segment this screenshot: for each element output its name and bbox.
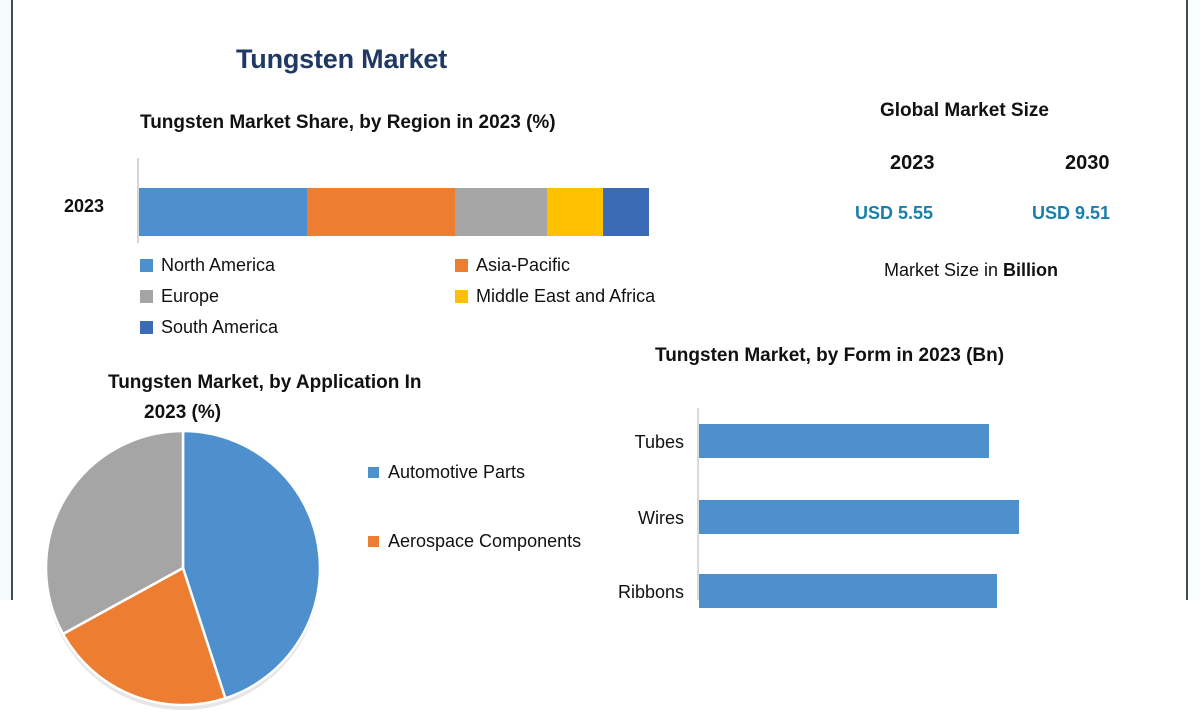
legend-item-automotive-parts[interactable]: Automotive Parts: [368, 460, 583, 485]
right-edge-wash: [1188, 0, 1200, 600]
stacked-segment: [307, 188, 455, 236]
region-legend-row: North America Asia-Pacific: [140, 250, 685, 281]
application-pie-chart: [40, 425, 330, 600]
application-title-line1: Tungsten Market, by Application In: [108, 372, 422, 393]
pie-slice-group: [46, 431, 320, 705]
legend-item-asia-pacific[interactable]: Asia-Pacific: [455, 255, 570, 276]
left-edge-wash: [0, 0, 11, 600]
global-market-value-forecast: USD 9.51: [1032, 203, 1110, 224]
global-market-unit-note: Market Size in Billion: [884, 260, 1058, 281]
legend-swatch-icon: [455, 259, 468, 272]
global-market-value-base: USD 5.55: [855, 203, 933, 224]
legend-swatch-icon: [140, 321, 153, 334]
global-market-title: Global Market Size: [880, 100, 1049, 122]
form-bar-label: Wires: [564, 508, 684, 529]
legend-label: North America: [161, 255, 275, 276]
form-chart-title: Tungsten Market, by Form in 2023 (Bn): [655, 345, 1004, 367]
region-legend-row: Europe Middle East and Africa: [140, 281, 685, 312]
legend-label: South America: [161, 317, 278, 338]
infographic-canvas: Tungsten Market Tungsten Market Share, b…: [0, 0, 1200, 600]
global-market-year-base: 2023: [890, 152, 935, 175]
form-bar: [699, 424, 989, 458]
legend-item-north-america[interactable]: North America: [140, 255, 455, 276]
legend-item-south-america[interactable]: South America: [140, 317, 455, 338]
stacked-segment: [603, 188, 649, 236]
legend-swatch-icon: [140, 290, 153, 303]
legend-item-europe[interactable]: Europe: [140, 286, 455, 307]
region-chart-title: Tungsten Market Share, by Region in 2023…: [140, 112, 556, 134]
legend-swatch-icon: [140, 259, 153, 272]
global-market-year-forecast: 2030: [1065, 152, 1110, 175]
region-category-label: 2023: [64, 196, 104, 217]
frame-border-right: [1186, 0, 1188, 600]
legend-swatch-icon: [368, 467, 379, 478]
frame-border-left: [11, 0, 13, 600]
form-bar-label: Tubes: [564, 432, 684, 453]
legend-swatch-icon: [455, 290, 468, 303]
stacked-segment: [547, 188, 603, 236]
legend-label: Europe: [161, 286, 219, 307]
legend-label: Asia-Pacific: [476, 255, 570, 276]
region-legend-row: South America: [140, 312, 685, 343]
legend-label: Automotive Parts: [388, 460, 525, 485]
legend-item-middle-east-and-africa[interactable]: Middle East and Africa: [455, 286, 655, 307]
stacked-segment: [455, 188, 547, 236]
application-title-line2: 2023 (%): [108, 398, 528, 428]
stacked-segment: [139, 188, 307, 236]
pie-svg: [40, 425, 330, 715]
unit-note-prefix: Market Size in: [884, 260, 1003, 280]
unit-note-unit: Billion: [1003, 260, 1058, 280]
legend-label: Aerospace Components: [388, 529, 581, 554]
region-legend: North America Asia-Pacific Europe Middle…: [140, 250, 685, 343]
application-chart-title: Tungsten Market, by Application In 2023 …: [108, 368, 528, 428]
page-title: Tungsten Market: [236, 44, 447, 75]
region-stacked-bar: [139, 188, 649, 236]
form-bar: [699, 500, 1019, 534]
legend-swatch-icon: [368, 536, 379, 547]
legend-item-aerospace-components[interactable]: Aerospace Components: [368, 529, 583, 554]
application-legend: Automotive Parts Aerospace Components: [368, 460, 583, 598]
form-bar: [699, 574, 997, 608]
legend-label: Middle East and Africa: [476, 286, 655, 307]
